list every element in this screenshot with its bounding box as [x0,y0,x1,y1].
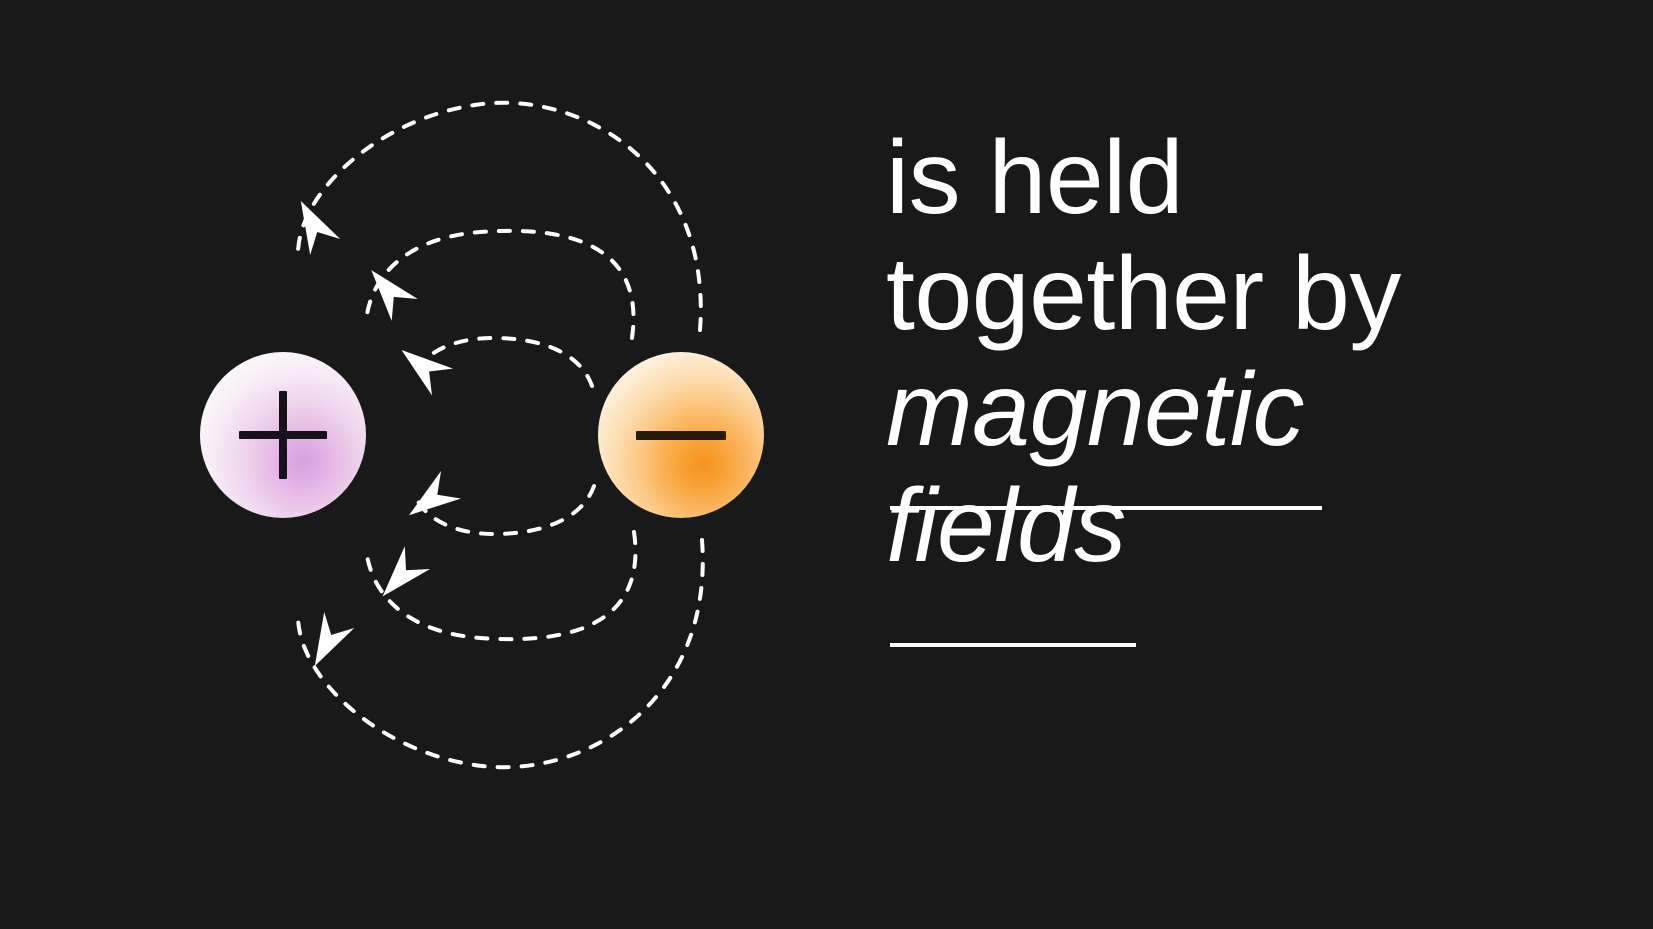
underline-fields [890,643,1136,647]
field-arrow-lower-outer [300,612,354,674]
field-line-upper-middle [366,231,634,338]
field-line-lower-middle [366,532,635,639]
field-line-lower-outer [298,540,703,767]
underline-magnetic [890,506,1322,510]
plus-icon-vertical [279,391,287,479]
field-line-upper-outer [298,103,701,330]
field-arrow-lower-middle [370,546,430,607]
positive-charge [200,352,366,518]
field-arrow-lower-inner [399,471,461,529]
minus-icon [636,431,726,440]
magnetic-field-diagram [0,0,880,929]
caption-line-2: together by [886,236,1626,352]
caption-block: is held together by magnetic fields [886,120,1626,584]
field-arrow-upper-inner [391,337,453,396]
field-line-upper-inner [414,338,592,386]
slide-canvas: is held together by magnetic fields [0,0,1653,929]
caption-line-3: magnetic [886,352,1626,468]
caption-line-1: is held [886,120,1626,236]
field-line-lower-inner [414,486,594,534]
negative-charge [598,352,764,518]
caption-line-4: fields [886,468,1626,584]
